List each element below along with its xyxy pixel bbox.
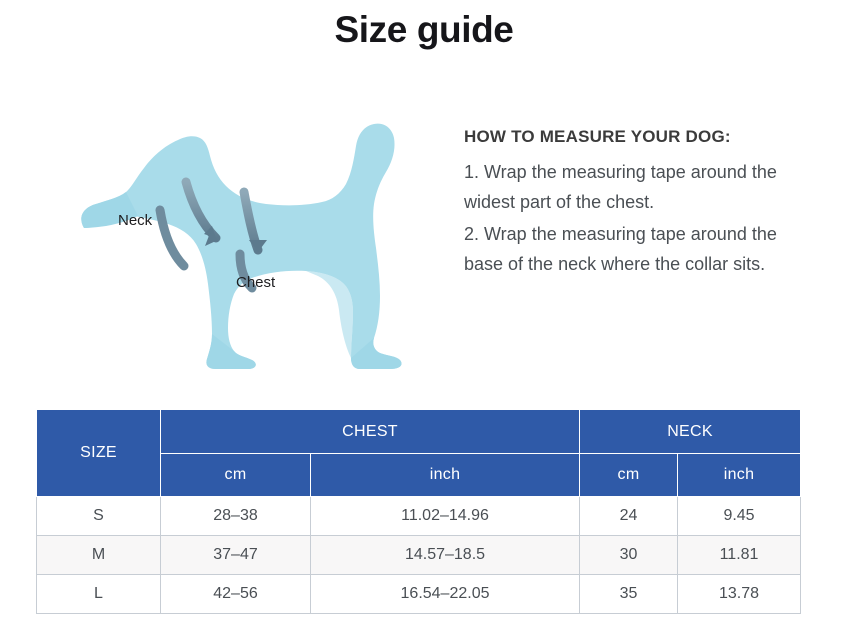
cell-chest-cm: 37–47 xyxy=(161,536,311,575)
table-body: S 28–38 11.02–14.96 24 9.45 M 37–47 14.5… xyxy=(37,497,801,614)
cell-chest-cm: 28–38 xyxy=(161,497,311,536)
dog-body-shape xyxy=(81,124,401,369)
table-row: S 28–38 11.02–14.96 24 9.45 xyxy=(37,497,801,536)
size-table-container: SIZE CHEST NECK cm inch cm inch S 28–38 … xyxy=(36,409,800,614)
instructions-heading: HOW TO MEASURE YOUR DOG: xyxy=(464,126,804,147)
table-header-row-groups: SIZE CHEST NECK xyxy=(37,410,801,454)
table-row: L 42–56 16.54–22.05 35 13.78 xyxy=(37,575,801,614)
cell-neck-cm: 24 xyxy=(580,497,678,536)
upper-content: Neck Chest HOW TO MEASURE YOUR DOG: 1. W… xyxy=(0,88,848,378)
dog-measurement-diagram: Neck Chest xyxy=(60,88,430,373)
page-title: Size guide xyxy=(0,8,848,52)
instructions-block: HOW TO MEASURE YOUR DOG: 1. Wrap the mea… xyxy=(464,126,804,281)
cell-size: S xyxy=(37,497,161,536)
cell-size: M xyxy=(37,536,161,575)
header-chest: CHEST xyxy=(161,410,580,454)
cell-neck-inch: 13.78 xyxy=(678,575,801,614)
cell-neck-cm: 30 xyxy=(580,536,678,575)
cell-size: L xyxy=(37,575,161,614)
cell-chest-inch: 16.54–22.05 xyxy=(311,575,580,614)
instruction-step-1: 1. Wrap the measuring tape around the wi… xyxy=(464,157,804,217)
size-table: SIZE CHEST NECK cm inch cm inch S 28–38 … xyxy=(36,409,801,614)
cell-neck-cm: 35 xyxy=(580,575,678,614)
table-head: SIZE CHEST NECK cm inch cm inch xyxy=(37,410,801,497)
cell-neck-inch: 9.45 xyxy=(678,497,801,536)
cell-chest-inch: 14.57–18.5 xyxy=(311,536,580,575)
table-row: M 37–47 14.57–18.5 30 11.81 xyxy=(37,536,801,575)
neck-label: Neck xyxy=(118,212,152,229)
cell-chest-cm: 42–56 xyxy=(161,575,311,614)
instruction-step-2: 2. Wrap the measuring tape around the ba… xyxy=(464,219,804,279)
chest-label: Chest xyxy=(236,274,275,291)
cell-neck-inch: 11.81 xyxy=(678,536,801,575)
header-chest-cm: cm xyxy=(161,454,311,497)
header-neck: NECK xyxy=(580,410,801,454)
header-chest-inch: inch xyxy=(311,454,580,497)
cell-chest-inch: 11.02–14.96 xyxy=(311,497,580,536)
header-neck-cm: cm xyxy=(580,454,678,497)
dog-silhouette-svg xyxy=(60,88,430,373)
header-size: SIZE xyxy=(37,410,161,497)
header-neck-inch: inch xyxy=(678,454,801,497)
